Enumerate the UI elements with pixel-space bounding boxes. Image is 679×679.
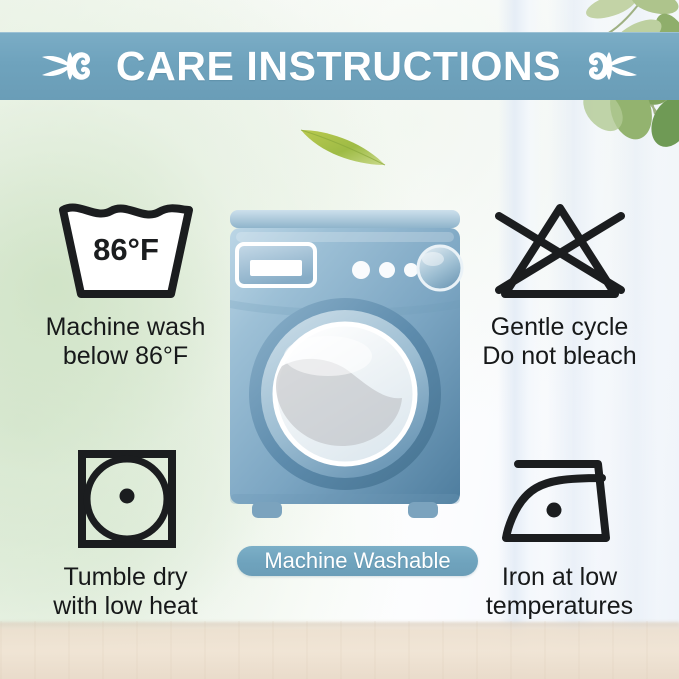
do-not-bleach-triangle-icon [452,192,667,307]
iron-icon [452,442,667,557]
symbol-caption: Machine wash below 86°F [18,313,233,371]
symbol-gentle-cycle-no-bleach: Gentle cycle Do not bleach [452,192,667,371]
machine-washable-badge: Machine Washable [237,546,478,576]
symbol-caption: Tumble dry with low heat [18,563,233,621]
symbol-caption: Iron at low temperatures [452,563,667,621]
indicator-dot [379,262,395,278]
fleur-de-lis-icon [583,44,639,88]
symbol-tumble-dry-low: Tumble dry with low heat [18,442,233,621]
wash-tub-icon: 86°F [18,192,233,307]
indicator-dot [352,261,370,279]
header-banner: CARE INSTRUCTIONS [0,32,679,100]
wooden-table-surface [0,621,679,679]
control-knob [418,246,462,290]
care-instructions-infographic: CARE INSTRUCTIONS 86°F Machine wash belo… [0,0,679,679]
indicator-dot [404,263,418,277]
badge-label: Machine Washable [264,550,450,572]
symbol-machine-wash: 86°F Machine wash below 86°F [18,192,233,371]
symbol-iron-low: Iron at low temperatures [452,442,667,621]
machine-foot [408,502,438,518]
fleur-de-lis-icon [40,44,96,88]
wash-temperature-value: 86°F [93,232,159,267]
symbol-caption: Gentle cycle Do not bleach [452,313,667,371]
washing-machine-illustration [224,208,466,533]
page-title: CARE INSTRUCTIONS [116,46,561,87]
machine-foot [252,502,282,518]
tumble-dry-icon [18,442,233,557]
